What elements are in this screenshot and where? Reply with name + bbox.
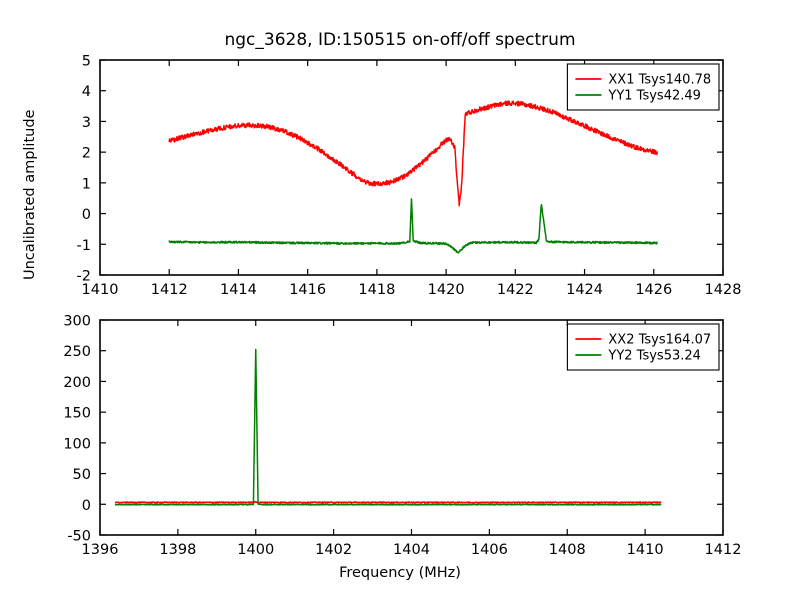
y-tick-label: 200 <box>63 375 91 391</box>
data-trace <box>116 502 661 503</box>
x-tick-label: 1406 <box>471 542 508 558</box>
bottom-spectrum-panel: 139613981400140214041406140814101412-500… <box>0 0 800 600</box>
y-tick-label: 150 <box>63 406 91 422</box>
y-tick-label: 300 <box>63 314 91 330</box>
x-tick-label: 1398 <box>159 542 196 558</box>
y-tick-label: -50 <box>67 529 91 545</box>
data-trace <box>116 349 661 504</box>
x-tick-label: 1408 <box>549 542 586 558</box>
x-tick-label: 1404 <box>393 542 430 558</box>
legend-label: YY2 Tsys53.24 <box>607 349 701 364</box>
spectrum-figure: ngc_3628, ID:150515 on-off/off spectrum … <box>0 0 800 600</box>
legend: XX2 Tsys164.07YY2 Tsys53.24 <box>567 324 719 370</box>
y-tick-label: 50 <box>73 467 91 483</box>
x-tick-label: 1410 <box>627 542 664 558</box>
y-tick-label: 100 <box>63 436 91 452</box>
x-tick-label: 1412 <box>705 542 742 558</box>
x-tick-label: 1400 <box>237 542 274 558</box>
y-tick-label: 250 <box>63 344 91 360</box>
y-tick-label: 0 <box>82 498 91 514</box>
legend-label: XX2 Tsys164.07 <box>608 333 711 348</box>
x-tick-label: 1402 <box>315 542 352 558</box>
